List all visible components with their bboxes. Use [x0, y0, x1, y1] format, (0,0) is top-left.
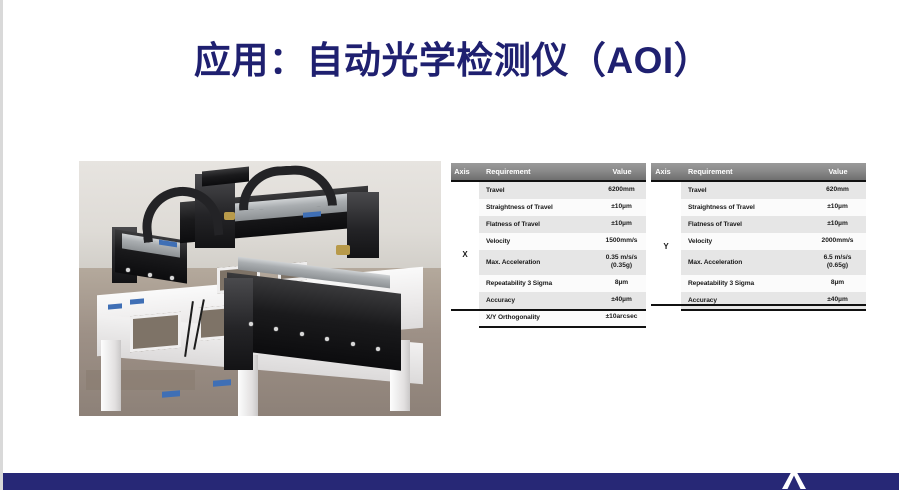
page-title: 应用：自动光学检测仪（AOI） [3, 40, 899, 83]
column-header-value: Value [809, 163, 866, 181]
table-row: Y Travel 620mm [651, 181, 866, 199]
requirement-cell: Accuracy [479, 292, 597, 309]
x-table-bottom-rule [451, 309, 646, 311]
y-axis-spec-table: Axis Requirement Value Y Travel 620mm St… [651, 163, 866, 311]
x-axis-spec-table: Axis Requirement Value X Travel 6200mm S… [451, 163, 646, 328]
requirement-cell: Travel [681, 181, 809, 199]
value-cell: ±10µm [809, 199, 866, 216]
requirement-cell: Repeatability 3 Sigma [479, 275, 597, 292]
requirement-cell: Max. Acceleration [681, 250, 809, 276]
table-row: Straightness of Travel ±10µm [451, 199, 646, 216]
aoi-gantry-photo [79, 161, 441, 416]
value-cell: ±40µm [809, 292, 866, 310]
table-row: Accuracy ±40µm [651, 292, 866, 310]
table-row: Repeatability 3 Sigma 8µm [451, 275, 646, 292]
table-row: Flatness of Travel ±10µm [451, 216, 646, 233]
requirement-cell: Repeatability 3 Sigma [681, 275, 809, 292]
triangle-chevron-logo-icon [781, 466, 807, 490]
table-row: Accuracy ±40µm [451, 292, 646, 309]
value-cell: 0.35 m/s/s(0.35g) [597, 250, 646, 276]
value-cell: ±10µm [809, 216, 866, 233]
axis-label-cell: X [451, 181, 479, 327]
table-header-row: Axis Requirement Value [651, 163, 866, 181]
requirement-cell: Flatness of Travel [479, 216, 597, 233]
table-row: Velocity 1500mm/s [451, 233, 646, 250]
requirement-cell: Velocity [479, 233, 597, 250]
requirement-cell: Flatness of Travel [681, 216, 809, 233]
value-cell: 1500mm/s [597, 233, 646, 250]
value-cell: 8µm [809, 275, 866, 292]
table-row: Flatness of Travel ±10µm [651, 216, 866, 233]
photo-rail-end-right [347, 192, 380, 258]
value-cell: 2000mm/s [809, 233, 866, 250]
photo-base-cutout [130, 312, 181, 352]
requirement-cell: Max. Acceleration [479, 250, 597, 276]
x-axis-spec-table-body: X Travel 6200mm Straightness of Travel ±… [451, 181, 646, 327]
y-axis-spec-table-header: Axis Requirement Value [651, 163, 866, 181]
table-row: X/Y Orthogonality ±10arcsec [451, 309, 646, 327]
y-table-bottom-rule [651, 304, 866, 306]
photo-scene [79, 161, 441, 416]
column-header-axis: Axis [451, 163, 479, 181]
requirement-cell: Straightness of Travel [681, 199, 809, 216]
photo-leg-left [101, 340, 121, 411]
column-header-requirement: Requirement [681, 163, 809, 181]
column-header-value: Value [597, 163, 646, 181]
table-row: Repeatability 3 Sigma 8µm [651, 275, 866, 292]
table-row: Max. Acceleration 0.35 m/s/s(0.35g) [451, 250, 646, 276]
table-row: Max. Acceleration 6.5 m/s/s(0.65g) [651, 250, 866, 276]
photo-fitting [336, 245, 350, 255]
value-cell: 620mm [809, 181, 866, 199]
slide-canvas: 应用：自动光学检测仪（AOI） [0, 0, 899, 490]
value-cell: ±10µm [597, 216, 646, 233]
table-row: Straightness of Travel ±10µm [651, 199, 866, 216]
column-header-requirement: Requirement [479, 163, 597, 181]
requirement-cell: Travel [479, 181, 597, 199]
value-cell: ±10µm [597, 199, 646, 216]
table-row: Velocity 2000mm/s [651, 233, 866, 250]
photo-pad [130, 298, 144, 304]
requirement-cell: X/Y Orthogonality [479, 309, 597, 327]
photo-fitting [224, 212, 235, 220]
photo-pad [108, 303, 122, 309]
footer-band [3, 473, 899, 490]
requirement-cell: Velocity [681, 233, 809, 250]
value-cell: 8µm [597, 275, 646, 292]
y-axis-spec-table-body: Y Travel 620mm Straightness of Travel ±1… [651, 181, 866, 310]
column-header-axis: Axis [651, 163, 681, 181]
axis-label-cell: Y [651, 181, 681, 310]
photo-pad [162, 390, 180, 398]
value-cell: ±40µm [597, 292, 646, 309]
requirement-cell: Accuracy [681, 292, 809, 310]
x-axis-spec-table-header: Axis Requirement Value [451, 163, 646, 181]
value-cell: ±10arcsec [597, 309, 646, 327]
value-cell: 6.5 m/s/s(0.65g) [809, 250, 866, 276]
table-row: X Travel 6200mm [451, 181, 646, 199]
requirement-cell: Straightness of Travel [479, 199, 597, 216]
value-cell: 6200mm [597, 181, 646, 199]
table-header-row: Axis Requirement Value [451, 163, 646, 181]
